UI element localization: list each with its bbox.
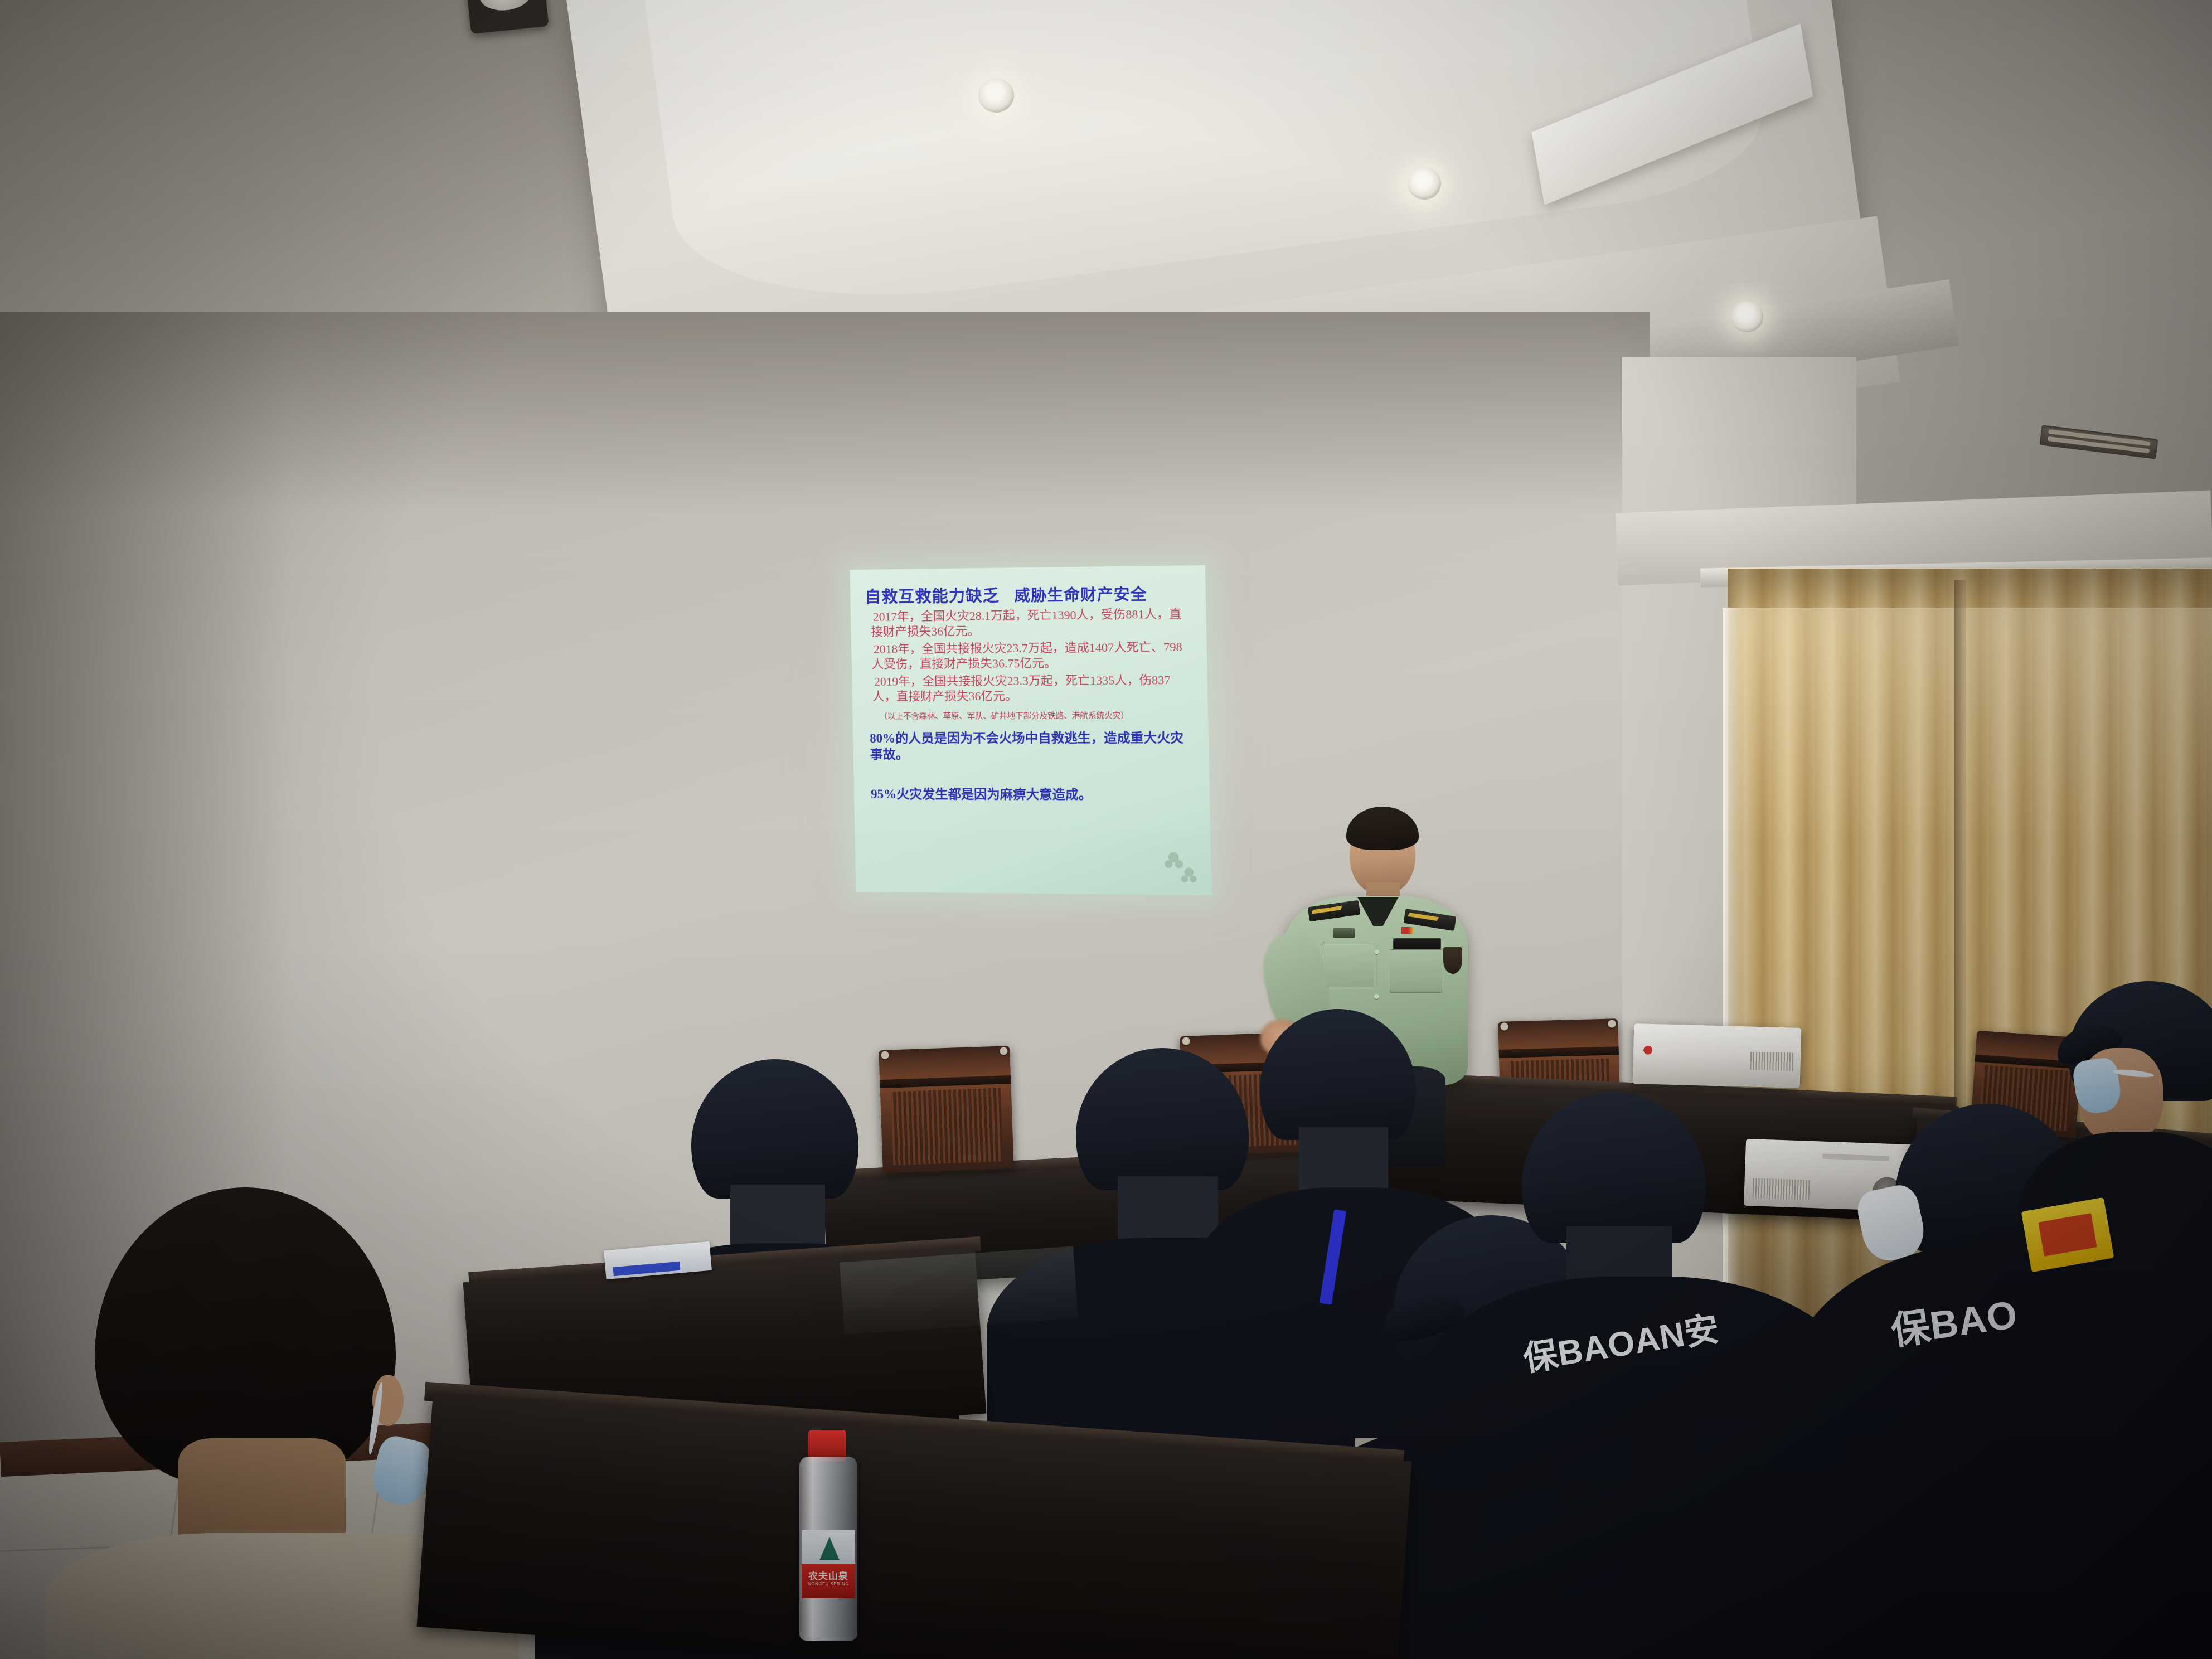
slide-watermark-logo	[1160, 849, 1201, 887]
slide-stat-2017: 2017年，全国火灾28.1万起，死亡1390人，受伤881人，直接财产损失36…	[871, 607, 1191, 640]
shirt-pocket-left	[1322, 944, 1374, 987]
attendee-guard-far-right	[2007, 981, 2212, 1371]
downlight-3	[1731, 301, 1763, 332]
downlight-1	[978, 78, 1014, 113]
uniform-cap	[691, 1059, 858, 1199]
curtain-highlight	[1728, 608, 2212, 842]
slide-heading-left: 自救互救能力缺乏	[865, 583, 1000, 608]
presenter-nametag	[1393, 938, 1441, 949]
chest-emblem-icon	[1333, 928, 1355, 938]
shirt-button-1	[1374, 949, 1379, 954]
downlight-2	[1408, 167, 1441, 200]
slide-point-2: 95%火灾发生都是因为麻痹大意造成。	[871, 787, 1195, 804]
bottle-brand-latin: NONGFU SPRING	[803, 1582, 854, 1587]
shirt-button-2	[1374, 994, 1379, 999]
slide-stat-2019: 2019年，全国共接报火灾23.3万起，死亡1335人，伤837人，直接财产损失…	[872, 673, 1193, 705]
presenter-hair	[1346, 807, 1419, 850]
flag-pin-icon	[1401, 927, 1413, 934]
slide-heading: 自救互救能力缺乏 威胁生命财产安全	[865, 580, 1191, 608]
slide-point-1: 80%的人员是因为不会火场中自救逃生，造成重大火灾事故。	[870, 730, 1194, 763]
epaulette-left	[1308, 900, 1361, 922]
slide-footnote: （以上不含森林、草原、军队、矿井地下部分及铁路、港航系统火灾）	[879, 710, 1193, 722]
meeting-room-photo: 自救互救能力缺乏 威胁生命财产安全 2017年，全国火灾28.1万起，死亡139…	[0, 0, 2212, 1659]
uniform-cap	[1260, 1009, 1416, 1140]
sleeve-patch-icon	[1443, 947, 1462, 974]
presenter-collar	[1357, 897, 1399, 926]
slide-stat-2018: 2018年，全国共接报火灾23.7万起，造成1407人死亡、798人受伤，直接财…	[871, 639, 1192, 672]
projected-slide: 自救互救能力缺乏 威胁生命财产安全 2017年，全国火灾28.1万起，死亡139…	[850, 565, 1211, 895]
slide-heading-right: 威胁生命财产安全	[1014, 582, 1147, 606]
bottle-brand-text: 农夫山泉	[803, 1568, 854, 1582]
water-bottle[interactable]: 农夫山泉 NONGFU SPRING	[796, 1430, 862, 1642]
shirt-pocket-right	[1390, 949, 1442, 993]
uniform-cap	[1522, 1093, 1706, 1243]
equipment-case	[1633, 1023, 1802, 1088]
